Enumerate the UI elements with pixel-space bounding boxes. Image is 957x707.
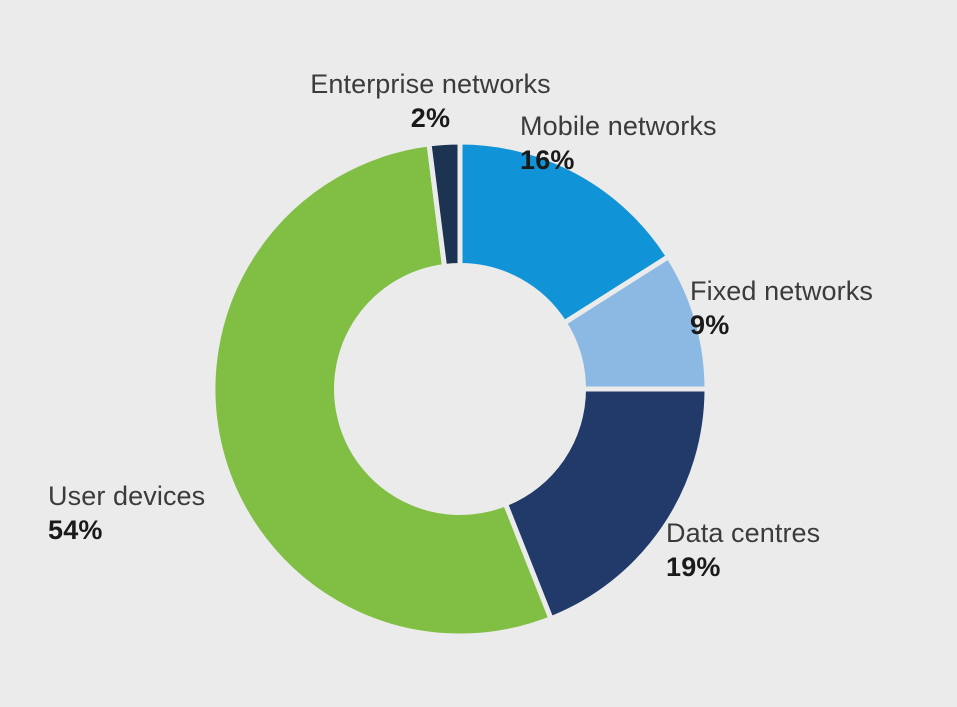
callout-mobile-networks: Mobile networks 16% (520, 110, 810, 177)
callout-fixed-networks: Fixed networks 9% (690, 275, 925, 342)
callout-value: 19% (666, 550, 901, 584)
callout-user-devices: User devices 54% (48, 480, 273, 547)
callout-label: Enterprise networks (258, 68, 603, 101)
callout-label: User devices (48, 480, 273, 513)
callout-value: 16% (520, 143, 810, 177)
callout-label: Mobile networks (520, 110, 810, 143)
callout-value: 9% (690, 308, 925, 342)
callout-label: Data centres (666, 517, 901, 550)
callout-data-centres: Data centres 19% (666, 517, 901, 584)
donut-slice-group: Mobile networks 16%Fixed networks 9%Data… (213, 142, 707, 636)
callout-label: Fixed networks (690, 275, 925, 308)
callout-value: 54% (48, 513, 273, 547)
donut-chart-figure: Mobile networks 16%Fixed networks 9%Data… (0, 0, 957, 707)
